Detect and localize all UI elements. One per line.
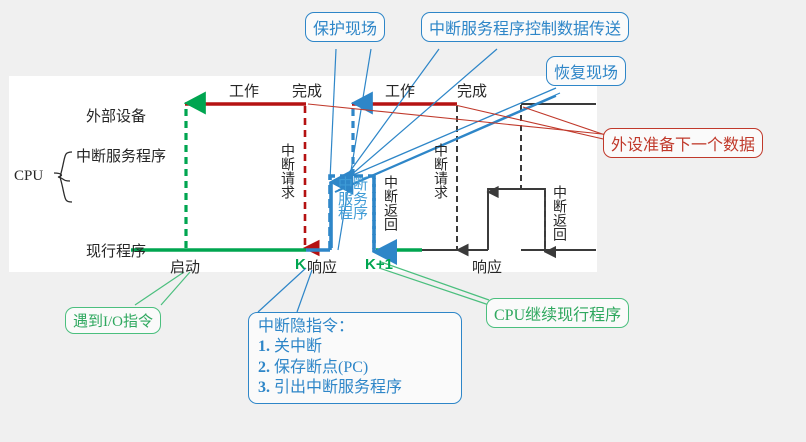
top-label-done-1: 完成 bbox=[292, 80, 322, 101]
callout-protect-scene[interactable]: 保护现场 bbox=[305, 12, 385, 42]
hidden-instruction-leader-lines bbox=[258, 268, 312, 312]
hidden-instruction-title: 中断隐指令： bbox=[258, 317, 452, 337]
vlabel-interrupt-return-1: 中断返回 bbox=[382, 175, 396, 231]
hidden-instruction-item-num: 1. bbox=[258, 338, 270, 355]
axis-label-k-plus-1: K+1 bbox=[365, 256, 393, 273]
isr-box-label: 中断 服务 程序 bbox=[332, 178, 374, 222]
callout-isr-controls-transfer[interactable]: 中断服务程序控制数据传送 bbox=[421, 12, 629, 42]
callout-restore-scene[interactable]: 恢复现场 bbox=[546, 56, 626, 86]
vlabel-interrupt-return-2: 中断返回 bbox=[551, 185, 565, 241]
callout-hidden-instruction[interactable]: 中断隐指令： 1. 关中断 2. 保存断点(PC) 3. 引出中断服务程序 bbox=[248, 312, 462, 404]
row-label-main-program: 现行程序 bbox=[86, 240, 146, 261]
diagram-root: 外部设备 中断服务程序 现行程序 CPU 工作 完成 工作 完成 中断请求 中断… bbox=[0, 0, 806, 442]
vlabel-interrupt-request-1: 中断请求 bbox=[279, 143, 293, 199]
row-label-external-device: 外部设备 bbox=[86, 105, 146, 126]
isr-box-line-3: 程序 bbox=[332, 207, 374, 222]
isr-box-line-1: 中断 bbox=[332, 178, 374, 193]
hidden-instruction-item-text: 引出中断服务程序 bbox=[274, 379, 402, 396]
hidden-instruction-item-num: 2. bbox=[258, 359, 270, 376]
axis-label-respond-2: 响应 bbox=[472, 256, 502, 277]
cpu-brace bbox=[60, 152, 72, 202]
axis-label-respond-1: 响应 bbox=[307, 256, 337, 277]
top-label-work-2: 工作 bbox=[385, 80, 415, 101]
row-label-isr: 中断服务程序 bbox=[76, 145, 166, 166]
axis-label-k: K bbox=[295, 256, 306, 273]
vlabel-interrupt-request-2: 中断请求 bbox=[432, 143, 446, 199]
callout-cpu-continues[interactable]: CPU继续现行程序 bbox=[486, 298, 629, 328]
top-label-done-2: 完成 bbox=[457, 80, 487, 101]
hidden-instruction-item-num: 3. bbox=[258, 379, 270, 396]
hidden-instruction-item-text: 关中断 bbox=[274, 338, 322, 355]
hidden-instruction-item-text: 保存断点(PC) bbox=[274, 359, 368, 376]
hidden-instruction-item: 2. 保存断点(PC) bbox=[258, 358, 452, 378]
top-label-work-1: 工作 bbox=[229, 80, 259, 101]
callout-io-instruction[interactable]: 遇到I/O指令 bbox=[65, 307, 161, 334]
hidden-instruction-item: 3. 引出中断服务程序 bbox=[258, 378, 452, 398]
row-label-cpu: CPU bbox=[14, 168, 43, 185]
callout-device-prepare-next[interactable]: 外设准备下一个数据 bbox=[603, 128, 763, 158]
axis-label-start: 启动 bbox=[170, 256, 200, 277]
isr-box-2 bbox=[488, 189, 545, 250]
hidden-instruction-item: 1. 关中断 bbox=[258, 337, 452, 357]
